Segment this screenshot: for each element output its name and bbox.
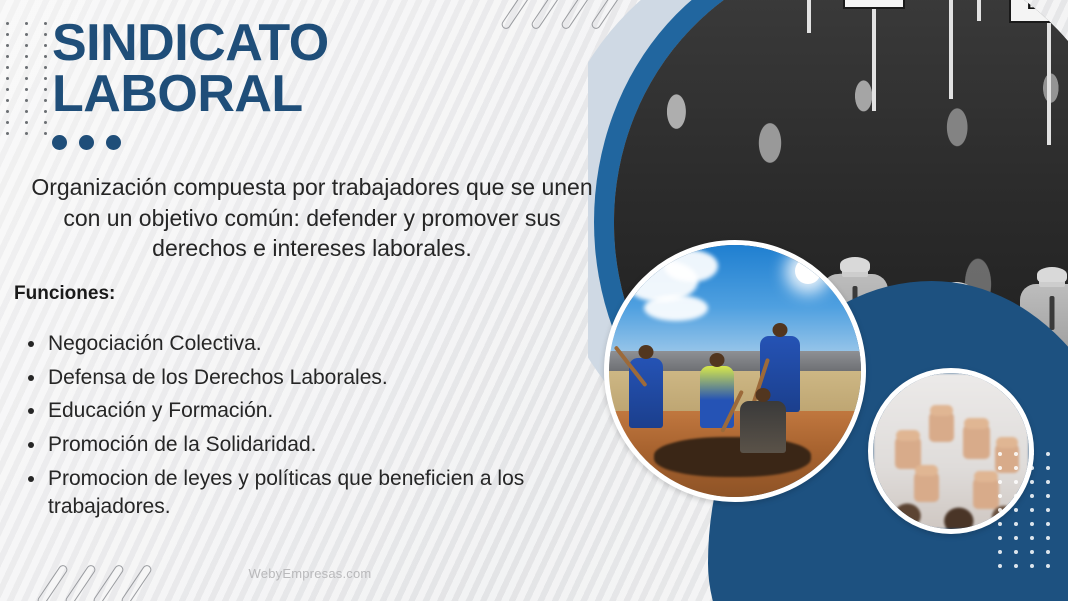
list-item: Negociación Colectiva. [16,330,606,358]
sun-flare [795,258,821,284]
grid-dot [1030,508,1034,512]
protest-sign: WE WANT BEER [843,0,905,111]
grid-dot [1014,550,1018,554]
grid-dot [998,522,1002,526]
grid-dot [998,564,1002,568]
sign-pole [949,0,953,99]
accent-dot [52,135,67,150]
protest-sign: WE WANT BEER [1009,0,1068,145]
trench [654,437,810,477]
grid-dot [998,536,1002,540]
grid-dot [1046,536,1050,540]
list-item: Educación y Formación. [16,397,606,425]
list-item: Promoción de la Solidaridad. [16,431,606,459]
grid-dot [998,452,1002,456]
dot-grid-bottomright [998,452,1060,580]
grid-dot [1046,480,1050,484]
list-item: Promocion de leyes y políticas que benef… [16,465,606,520]
grid-dot [1014,452,1018,456]
workers-scene [609,245,861,497]
page-title: SINDICATO LABORAL [52,18,592,120]
grid-dot [1014,564,1018,568]
grid-dot [1030,522,1034,526]
raised-fist [963,423,990,459]
sign-pole [1047,21,1051,145]
raised-fist [895,435,921,469]
slide-canvas: WE WANT BEER WE WANT BEER [0,0,1068,601]
grid-dot [1046,452,1050,456]
sign-line-3: BEER [859,0,890,1]
grid-dot [998,494,1002,498]
grid-dot [1030,494,1034,498]
watermark: WebyEmpresas.com [0,566,620,581]
worker-figure [740,401,786,453]
protest-sign: WE WANT BEER [957,0,1001,21]
functions-heading: Funciones: [14,283,115,305]
grid-dot [1030,452,1034,456]
grid-dot [1030,480,1034,484]
grid-dot [998,480,1002,484]
grid-dot [1046,522,1050,526]
workers-photo [604,240,866,502]
lead-paragraph: Organización compuesta por trabajadores … [14,172,610,264]
functions-list: Negociación Colectiva. Defensa de los De… [16,330,606,526]
raised-fist [973,476,999,509]
protest-sign: WE WANT BEER [786,0,832,33]
sign-pole [977,0,981,21]
grid-dot [1046,508,1050,512]
sign-board: WE WANT BEER [1009,0,1068,23]
grid-dot [1014,508,1018,512]
title-accent-dots [52,135,121,150]
grid-dot [1046,550,1050,554]
grid-dot [1030,536,1034,540]
sign-line-3: BEER [1027,0,1068,13]
grid-dot [1046,494,1050,498]
grid-dot [1014,536,1018,540]
grid-dot [1030,466,1034,470]
grid-dot [1014,494,1018,498]
grid-dot [1030,550,1034,554]
sign-pole [807,0,811,33]
grid-dot [1014,522,1018,526]
grid-dot [998,550,1002,554]
grid-dot [1030,564,1034,568]
raised-fist [914,470,939,502]
sign-pole [872,5,876,111]
grid-dot [998,466,1002,470]
list-item: Defensa de los Derechos Laborales. [16,364,606,392]
grid-dot [998,508,1002,512]
accent-dot [79,135,94,150]
grid-dot [1014,466,1018,470]
grid-dot [1046,466,1050,470]
title-line-1: SINDICATO [52,14,329,72]
sign-board: WE WANT BEER [843,0,905,9]
grid-dot [1014,480,1018,484]
raised-fist [929,410,954,442]
text-content: SINDICATO LABORAL Organización compuesta… [0,0,620,601]
grid-dot [1046,564,1050,568]
accent-dot [106,135,121,150]
title-line-2: LABORAL [52,69,592,120]
